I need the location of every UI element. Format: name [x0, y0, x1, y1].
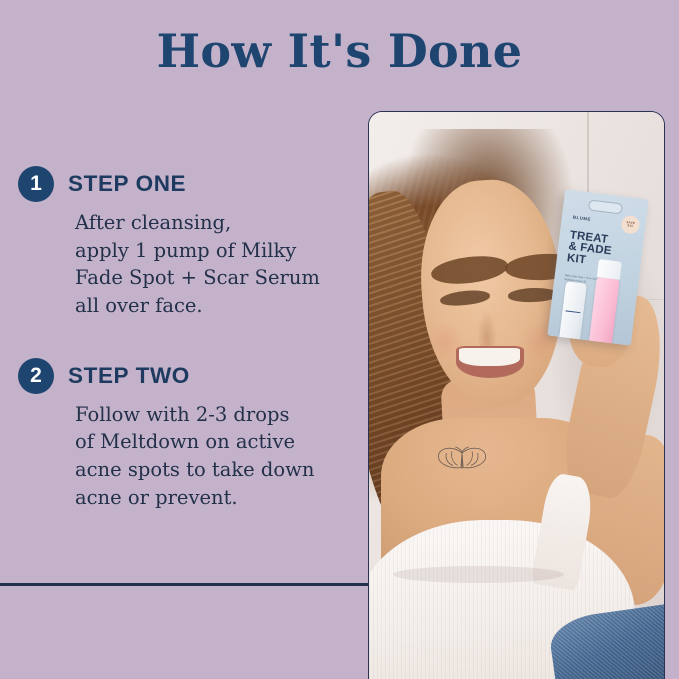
butterfly-tattoo-icon — [434, 438, 490, 481]
serum-bottle-white — [559, 282, 587, 346]
serum-bottle-pink — [588, 277, 620, 346]
lifestyle-photo: BLUME SAVE $10 TREAT & FADE KIT Milky Fa… — [368, 111, 665, 679]
serum-bottle-pink-cap — [597, 259, 622, 279]
step-one-label: STEP ONE — [68, 171, 186, 197]
page-title: How It's Done — [0, 26, 679, 77]
step-block-two: 2 STEP TWO Follow with 2-3 drops of Melt… — [18, 358, 358, 512]
product-box-hang-hole — [588, 200, 623, 214]
photo-inner: BLUME SAVE $10 TREAT & FADE KIT Milky Fa… — [369, 112, 664, 679]
step-two-header: 2 STEP TWO — [18, 358, 358, 394]
teeth — [459, 348, 520, 366]
step-number-badge-2: 2 — [18, 358, 54, 394]
tank-fold — [393, 566, 564, 583]
step-two-label: STEP TWO — [68, 363, 190, 389]
step-number-badge-1: 1 — [18, 166, 54, 202]
step-two-body: Follow with 2-3 drops of Meltdown on act… — [75, 401, 358, 512]
step-one-body: After cleansing, apply 1 pump of Milky F… — [75, 209, 358, 320]
step-one-header: 1 STEP ONE — [18, 166, 358, 202]
product-badge: SAVE $10 — [620, 215, 641, 235]
horizontal-divider — [0, 583, 368, 586]
step-block-one: 1 STEP ONE After cleansing, apply 1 pump… — [18, 166, 358, 320]
steps-column: 1 STEP ONE After cleansing, apply 1 pump… — [18, 166, 358, 550]
product-brand-label: BLUME — [573, 214, 592, 221]
nose — [477, 310, 498, 350]
smiling-mouth — [456, 346, 524, 378]
